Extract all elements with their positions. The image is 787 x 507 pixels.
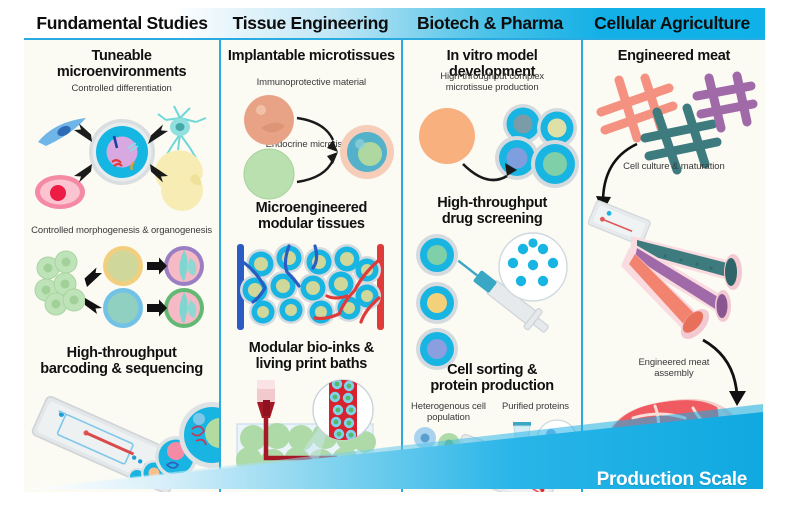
heading-line-2: protein production — [403, 378, 580, 394]
heading-line-1: High-throughput — [24, 345, 219, 361]
header-biotech-pharma: Biotech & Pharma — [401, 13, 579, 34]
heading-implantable-microtissues: Implantable microtissues — [221, 48, 401, 64]
graphic-morphogenesis-organogenesis — [32, 242, 212, 334]
caption-controlled-morphogenesis: Controlled morphogenesis & organogenesis — [24, 226, 219, 237]
heading-line-1: High-throughput — [403, 195, 580, 211]
caption-heterogenous-cell-population: Heterogenous cell population — [405, 402, 491, 424]
column-fundamental-studies: Tuneable microenvironments Controlled di… — [24, 40, 219, 492]
caption-line-2: microtissue production — [403, 83, 580, 94]
graphic-cultured-meat-steak — [589, 388, 759, 478]
graphic-implantable-microtissue-assembly — [227, 92, 399, 196]
caption-controlled-differentiation: Controlled differentiation — [24, 84, 219, 95]
heading-modular-bioinks: Modular bio-inks & living print baths — [221, 340, 401, 372]
heading-cell-sorting-protein-production: Cell sorting & protein production — [403, 362, 580, 394]
caption-immunoprotective-material: Immunoprotective material — [221, 78, 401, 89]
graphic-cell-sorting-protein-production — [405, 426, 579, 492]
figure-root: Fundamental Studies Tissue Engineering B… — [0, 0, 787, 507]
heading-line-2: living print baths — [221, 356, 401, 372]
column-cellular-agriculture: Engineered meat — [581, 40, 765, 492]
graphic-stem-cell-differentiation — [30, 96, 214, 212]
column-tissue-engineering: Implantable microtissues Immunoprotectiv… — [219, 40, 401, 492]
caption-purified-proteins: Purified proteins — [493, 402, 577, 413]
heading-line-1: Tuneable — [24, 48, 219, 64]
heading-line-2: microenvironments — [24, 64, 219, 80]
heading-high-throughput-barcoding: High-throughput barcoding & sequencing — [24, 345, 219, 377]
heading-engineered-meat: Engineered meat — [583, 48, 765, 64]
column-biotech-pharma: In vitro model development High-throughp… — [401, 40, 580, 492]
production-scale-label: Production Scale — [597, 469, 747, 491]
graphic-bioprinting-living-bath — [225, 380, 399, 490]
heading-line-1: Cell sorting & — [403, 362, 580, 378]
columns-container: Tuneable microenvironments Controlled di… — [24, 40, 765, 492]
heading-line-2: barcoding & sequencing — [24, 361, 219, 377]
header-tissue-engineering: Tissue Engineering — [220, 13, 401, 34]
graphic-ht-microtissue-production — [411, 102, 575, 194]
caption-line-2: population — [405, 413, 491, 424]
header-cellular-agriculture: Cellular Agriculture — [579, 13, 765, 34]
heading-tuneable-microenvironments: Tuneable microenvironments — [24, 48, 219, 80]
header-fundamental-studies: Fundamental Studies — [24, 13, 220, 34]
graphic-microfluidic-barcoding-chip — [26, 385, 219, 492]
heading-line-2: modular tissues — [221, 216, 401, 232]
graphic-modular-tissue-vasculature — [227, 240, 397, 338]
heading-ht-drug-screening: High-throughput drug screening — [403, 195, 580, 227]
graphic-drug-screening-syringe — [407, 235, 577, 357]
column-header-bar: Fundamental Studies Tissue Engineering B… — [24, 8, 765, 40]
heading-line-2: drug screening — [403, 211, 580, 227]
heading-line-1: Modular bio-inks & — [221, 340, 401, 356]
heading-line-1: Microengineered — [221, 200, 401, 216]
graphic-muscle-fiber-bundles — [585, 190, 765, 350]
heading-microengineered-modular-tissues: Microengineered modular tissues — [221, 200, 401, 232]
caption-ht-complex-microtissue: High-throughput complex microtissue prod… — [403, 72, 580, 94]
